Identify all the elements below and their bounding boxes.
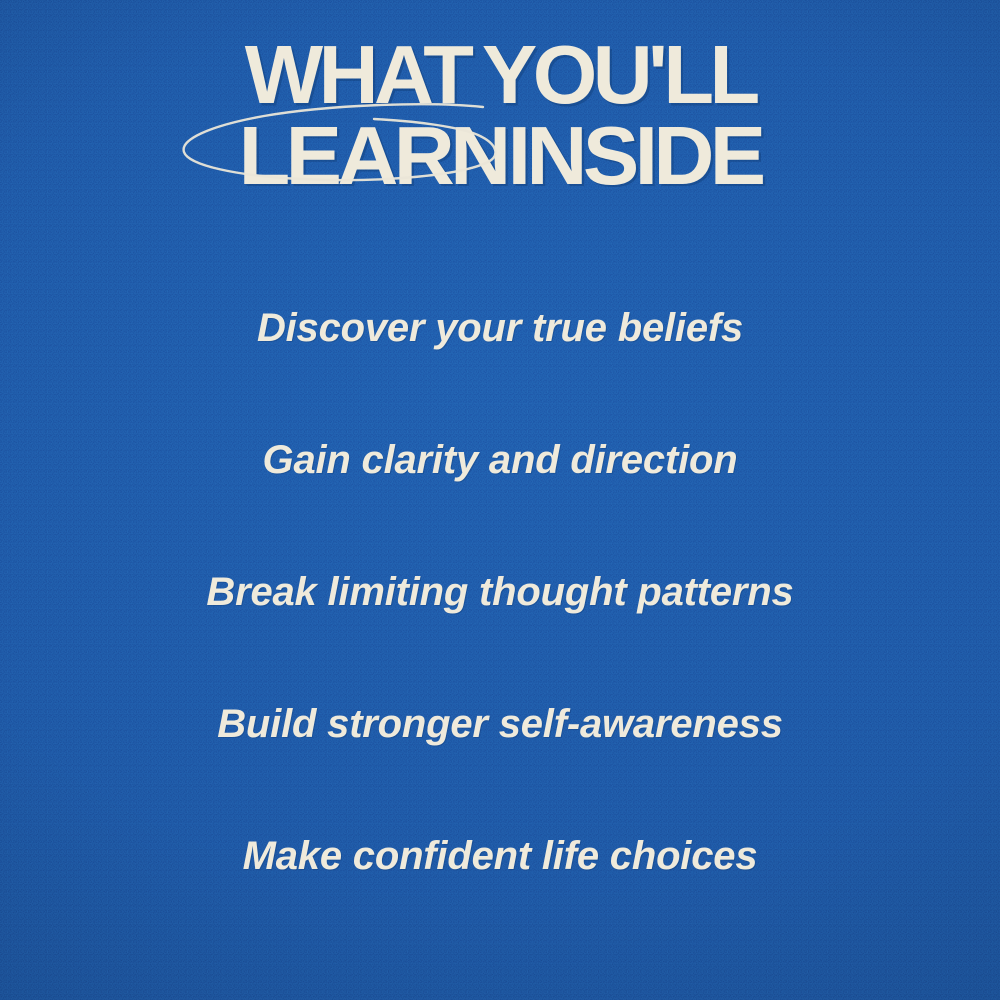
headline-line-1: WHATYOU'LL xyxy=(0,40,1000,112)
poster-canvas: WHATYOU'LL LEARNINSIDE Discover your tru… xyxy=(0,0,1000,1000)
list-item: Discover your true beliefs xyxy=(0,262,1000,394)
list-item: Break limiting thought patterns xyxy=(0,526,1000,658)
list-item: Build stronger self-awareness xyxy=(0,658,1000,790)
headline-word-what: WHAT xyxy=(245,40,470,109)
list-item: Gain clarity and direction xyxy=(0,394,1000,526)
headline-line-2: LEARNINSIDE xyxy=(0,120,1000,192)
headline-block: WHATYOU'LL LEARNINSIDE xyxy=(0,48,1000,184)
headline-word-youll: YOU'LL xyxy=(482,40,756,109)
list-item: Make confident life choices xyxy=(0,790,1000,922)
headline-word-inside: INSIDE xyxy=(508,120,762,192)
learning-points-list: Discover your true beliefs Gain clarity … xyxy=(0,262,1000,922)
headline-word-learn: LEARN xyxy=(238,120,506,192)
